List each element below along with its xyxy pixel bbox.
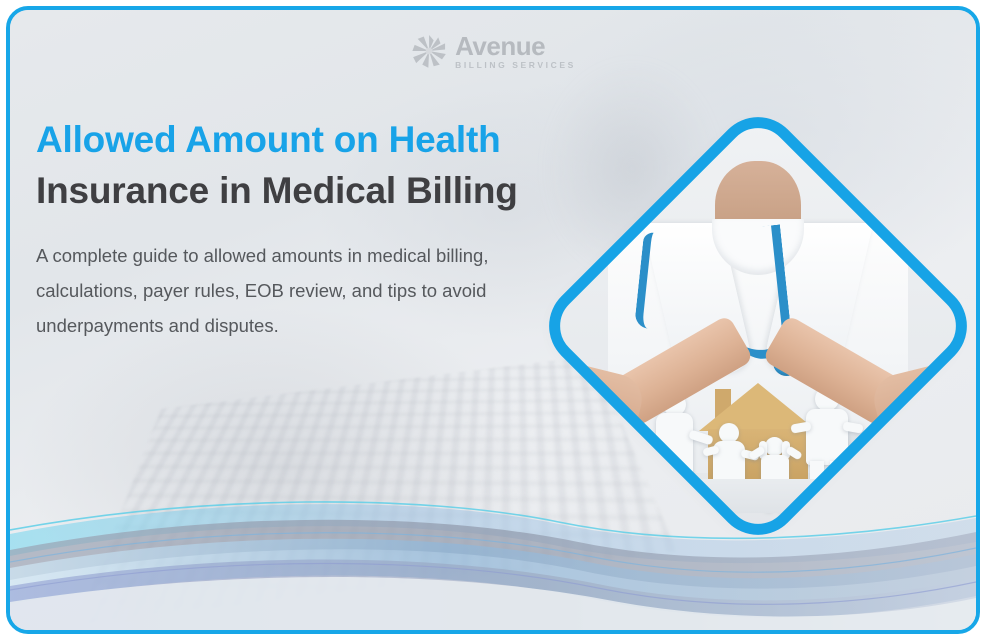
banner-frame: Avenue BILLING SERVICES Allowed Amount o… (6, 6, 980, 634)
page-title: Allowed Amount on Health Insurance in Me… (36, 114, 576, 216)
headline-accent: Allowed Amount on Health (36, 119, 501, 160)
headline-rest: Insurance in Medical Billing (36, 170, 518, 211)
diamond-outline-frame (532, 100, 980, 553)
hero-diamond (548, 106, 968, 546)
copy-block: Allowed Amount on Health Insurance in Me… (36, 114, 576, 344)
brand-logo[interactable]: Avenue BILLING SERVICES (410, 32, 576, 70)
logo-brand-name: Avenue (455, 33, 576, 59)
logo-tagline: BILLING SERVICES (455, 61, 576, 70)
pinwheel-sunburst-icon (410, 32, 448, 70)
page-subtitle: A complete guide to allowed amounts in m… (36, 238, 536, 343)
